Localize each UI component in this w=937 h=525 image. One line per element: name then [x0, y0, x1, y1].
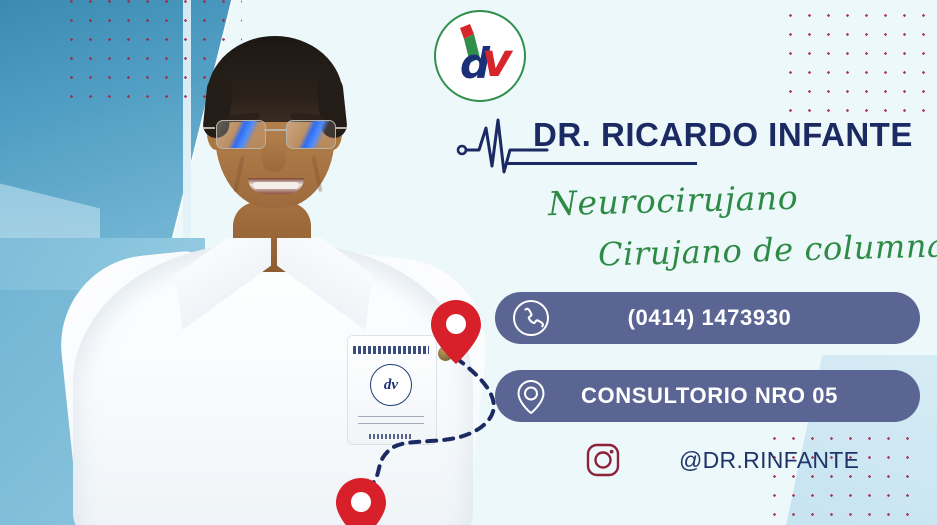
logo-letter-v: v [482, 33, 514, 87]
map-pin-icon-lower [336, 478, 386, 525]
phone-icon [511, 298, 551, 338]
doctor-name-block: DR. RICARDO INFANTE [455, 112, 925, 176]
mouth [248, 178, 304, 194]
dv-logo[interactable]: d v [430, 6, 530, 106]
instagram-icon [585, 442, 621, 478]
route-map-graphic [330, 288, 520, 525]
name-underline [505, 162, 697, 165]
map-pin-icon-upper [431, 300, 481, 364]
dot-grid-top-right [781, 6, 937, 122]
dashed-route-line [372, 358, 494, 484]
office-contact-pill[interactable]: CONSULTORIO NRO 05 [495, 370, 920, 422]
instagram-handle-label: @DR.RINFANTE [679, 447, 859, 474]
glasses-lens-right [286, 120, 336, 149]
glasses-temple-right [335, 127, 347, 129]
specialty-line-1: Neurocirujano [548, 178, 799, 224]
map-pin-icon [511, 376, 551, 416]
glasses-temple-left [203, 127, 215, 129]
nose [262, 142, 286, 172]
phone-number-label: (0414) 1473930 [551, 305, 920, 331]
glasses-bridge [264, 129, 286, 131]
glasses-lens-left [216, 120, 266, 149]
page-title: DR. RICARDO INFANTE [533, 116, 913, 154]
instagram-contact-row[interactable]: @DR.RINFANTE [585, 438, 885, 482]
logo-mark-icon: d v [430, 6, 530, 106]
phone-contact-pill[interactable]: (0414) 1473930 [495, 292, 920, 344]
teeth [253, 182, 299, 189]
business-card-banner: dv d v DR. RICARDO INFANTE [0, 0, 937, 525]
office-label: CONSULTORIO NRO 05 [551, 383, 920, 409]
